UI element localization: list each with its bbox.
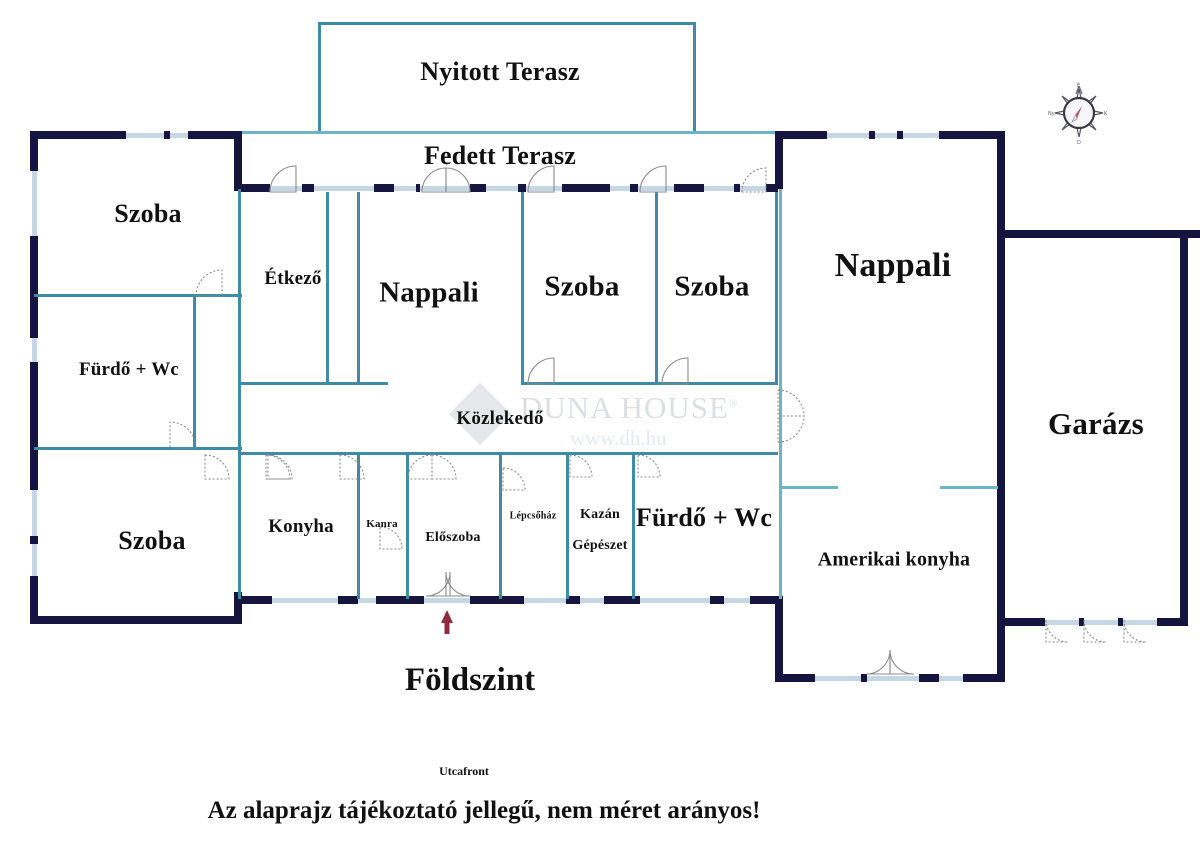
- window-top-left-b: [170, 133, 188, 138]
- room-label-nyitott-terasz: Nyitott Terasz: [420, 57, 580, 87]
- disclaimer-text: Az alaprajz tájékoztató jellegű, nem mér…: [208, 797, 761, 825]
- part-r-h-right: [940, 486, 998, 489]
- right-window-top-a: [827, 133, 869, 138]
- part-b-v-lepcso: [566, 455, 569, 599]
- part-b-v-kamra: [406, 455, 409, 599]
- right-wall-right-lower: [997, 237, 1005, 682]
- window-left-d: [32, 544, 37, 576]
- room-label-etkezo: Étkező: [264, 268, 321, 290]
- watermark-brand: DUNA HOUSE®: [520, 390, 738, 426]
- outer-wall-left-c: [30, 362, 38, 490]
- room-label-lepcsohaz: Lépcsőház: [510, 511, 557, 522]
- part-c-v-szoba2: [655, 192, 658, 384]
- center-bottom-seg-1: [238, 596, 272, 604]
- nyitott-terasz-wall-top: [318, 22, 696, 25]
- terasz-window-5: [704, 186, 734, 191]
- terasz-window-4: [610, 186, 630, 191]
- fedett-terasz-wall-left: [234, 131, 242, 191]
- room-label-amerikai-konyha: Amerikai konyha: [818, 549, 970, 572]
- outer-wall-left-b: [30, 236, 38, 338]
- center-bottom-door: [424, 598, 470, 603]
- right-inner-left-line: [779, 189, 782, 599]
- terasz-window-6: [740, 186, 766, 191]
- room-label-kazan: Kazán: [580, 507, 620, 523]
- garage-wall-bottom-a: [1005, 618, 1045, 626]
- part-c-v-etkezo: [326, 192, 329, 384]
- part-b-v-konyha: [357, 455, 360, 599]
- room-label-furdo-wc-right: Fürdő + Wc: [636, 503, 772, 533]
- part-c-h-nappali-bot: [326, 382, 388, 385]
- terasz-wall-seg-9: [674, 184, 704, 192]
- right-window-top-b: [875, 133, 897, 138]
- street-front-label: Utcafront: [439, 764, 489, 779]
- right-wall-bottom-c: [919, 674, 939, 682]
- center-bottom-win-1: [272, 598, 338, 603]
- room-label-nappali-right: Nappali: [835, 247, 952, 285]
- terasz-window-3: [486, 186, 518, 191]
- room-label-furdo-wc-left: Fürdő + Wc: [79, 359, 179, 381]
- room-label-szoba-center-2: Szoba: [674, 271, 749, 304]
- center-bottom-seg-4: [470, 596, 524, 604]
- nyitott-terasz-wall-left: [318, 22, 321, 134]
- room-label-nappali-center: Nappali: [379, 277, 479, 310]
- svg-text:K: K: [1104, 111, 1108, 117]
- part-left-v1: [193, 294, 196, 450]
- svg-text:D: D: [1077, 140, 1081, 146]
- center-bottom-seg-3: [376, 596, 424, 604]
- right-window-top-c: [903, 133, 939, 138]
- part-kozl-bot: [241, 452, 778, 455]
- outer-wall-bottom-left: [30, 616, 242, 624]
- window-left-a: [32, 171, 37, 236]
- outer-wall-left-a: [30, 131, 38, 171]
- right-door-bottom: [867, 676, 919, 681]
- room-label-szoba-center-1: Szoba: [544, 271, 619, 304]
- watermark-registered: ®: [729, 398, 738, 410]
- garage-door-panel-2: [1084, 620, 1118, 625]
- outer-wall-left-d: [30, 536, 38, 544]
- svg-text:Ny: Ny: [1048, 111, 1055, 117]
- part-b-v-kazan: [632, 455, 635, 599]
- terasz-wall-seg-1: [238, 184, 270, 192]
- right-wall-top-d: [939, 131, 1005, 139]
- part-left-h2: [34, 447, 242, 450]
- room-label-gepeszet: Gépészet: [572, 538, 627, 554]
- garage-wall-bottom-d: [1157, 618, 1188, 626]
- terasz-wall-seg-7: [562, 184, 610, 192]
- part-left-h1b: [196, 294, 242, 297]
- terasz-wall-seg-6: [518, 184, 526, 192]
- door-swing-overlay: [0, 0, 1200, 846]
- terasz-window-2: [394, 186, 416, 191]
- center-bottom-win-2: [358, 598, 376, 603]
- room-label-konyha: Konyha: [268, 516, 334, 538]
- room-label-fedett-terasz: Fedett Terasz: [424, 141, 576, 171]
- room-label-szoba-bottom-left: Szoba: [118, 526, 185, 556]
- part-c-v-nappali: [357, 192, 360, 384]
- outer-wall-top-left-a: [30, 131, 126, 139]
- terasz-door-4: [638, 186, 674, 191]
- watermark-url: www.dh.hu: [570, 426, 667, 451]
- terasz-window-1: [314, 186, 374, 191]
- center-bottom-win-5: [640, 598, 710, 603]
- center-bottom-seg-8: [750, 596, 778, 604]
- part-left-h1: [34, 294, 196, 297]
- window-top-left-a: [126, 133, 164, 138]
- page-title: Földszint: [405, 662, 535, 699]
- terasz-wall-seg-8: [630, 184, 638, 192]
- terasz-wall-seg-2: [302, 184, 314, 192]
- right-window-bottom-a: [815, 676, 861, 681]
- right-wall-left-lower: [775, 596, 783, 682]
- part-b-v-eloszoba: [499, 455, 502, 599]
- garage-door-panel-3: [1123, 620, 1157, 625]
- right-window-bottom-b: [939, 676, 963, 681]
- right-wall-bottom-a: [775, 674, 815, 682]
- terasz-wall-seg-3: [374, 184, 394, 192]
- garage-door-panel-1: [1045, 620, 1079, 625]
- center-bottom-win-4: [580, 598, 604, 603]
- room-label-garazs: Garázs: [1048, 406, 1144, 442]
- terasz-door-2: [420, 186, 470, 191]
- window-left-b: [32, 338, 37, 362]
- fedett-terasz-top-edge: [238, 131, 778, 134]
- room-label-kamra: Kanra: [366, 518, 398, 530]
- part-left-v2: [238, 189, 241, 599]
- terasz-door-3: [526, 186, 562, 191]
- part-r-h-left: [782, 486, 838, 489]
- part-c-v-furdo-r: [775, 192, 778, 384]
- compass-rose-icon: ÉD NyK: [1046, 80, 1112, 146]
- terasz-wall-seg-5: [470, 184, 486, 192]
- part-c-h-szobas-bot: [521, 382, 778, 385]
- garage-wall-right: [1180, 230, 1188, 626]
- room-label-szoba-top-left: Szoba: [114, 199, 181, 229]
- part-c-v-szoba1: [521, 192, 524, 384]
- room-label-eloszoba: Előszoba: [425, 530, 480, 546]
- svg-text:É: É: [1077, 81, 1080, 89]
- center-bottom-seg-7: [710, 596, 724, 604]
- nyitott-terasz-wall-right: [693, 22, 696, 134]
- window-left-c: [32, 490, 37, 536]
- floor-plan-canvas: ÉD NyK DUNA HOUSE® www.dh.hu Nyitott Ter…: [0, 0, 1200, 846]
- right-wall-right-upper: [997, 131, 1005, 237]
- right-wall-bottom-d: [963, 674, 1005, 682]
- center-bottom-win-3: [524, 598, 566, 603]
- watermark-brand-text: DUNA HOUSE: [520, 390, 729, 425]
- room-label-kozlekedo: Közlekedő: [456, 408, 543, 430]
- entrance-arrow-icon: [441, 610, 453, 634]
- center-bottom-win-6: [724, 598, 750, 603]
- center-bottom-seg-2: [338, 596, 358, 604]
- part-c-h-etkezo-bot: [241, 382, 329, 385]
- right-wall-left-upper: [775, 131, 783, 189]
- terasz-door-1: [270, 186, 302, 191]
- garage-wall-top: [1005, 230, 1200, 238]
